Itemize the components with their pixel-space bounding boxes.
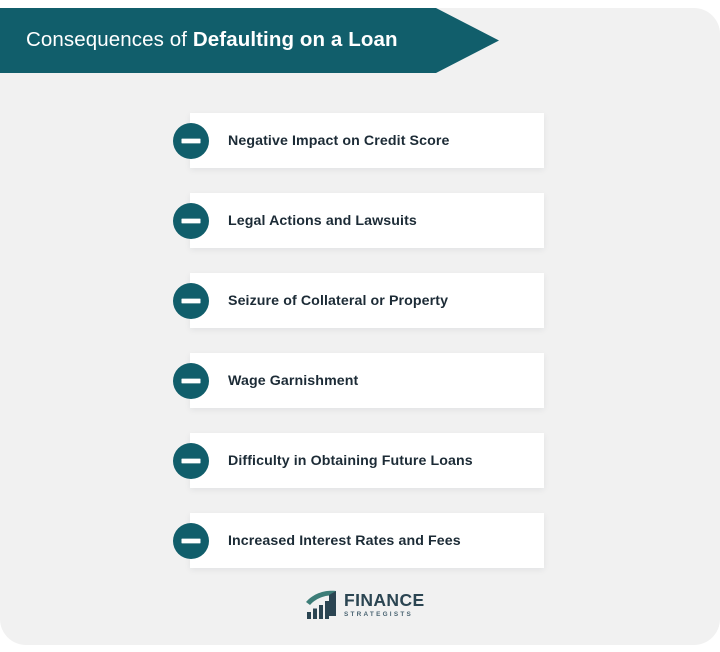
brand-logo-text: FINANCE STRATEGISTS xyxy=(344,592,425,618)
page-title-regular: Consequences of xyxy=(26,28,193,51)
list-item-label: Difficulty in Obtaining Future Loans xyxy=(228,453,473,469)
infographic-root: Consequences of Defaulting on a Loan Neg… xyxy=(0,0,720,652)
list-item-label: Increased Interest Rates and Fees xyxy=(228,533,461,549)
list-item-label: Seizure of Collateral or Property xyxy=(228,293,448,309)
bar-chart-swoosh-logo-icon xyxy=(305,590,339,620)
list-item[interactable]: Negative Impact on Credit Score xyxy=(190,113,544,168)
minus-circle-icon xyxy=(172,202,210,240)
list-item[interactable]: Difficulty in Obtaining Future Loans xyxy=(190,433,544,488)
list-item[interactable]: Legal Actions and Lawsuits xyxy=(190,193,544,248)
page-title: Consequences of Defaulting on a Loan xyxy=(26,29,398,52)
minus-circle-icon xyxy=(172,282,210,320)
list-item-label: Negative Impact on Credit Score xyxy=(228,133,450,149)
consequences-list: Negative Impact on Credit Score Legal Ac… xyxy=(190,113,544,568)
list-item[interactable]: Increased Interest Rates and Fees xyxy=(190,513,544,568)
list-item-label: Wage Garnishment xyxy=(228,373,358,389)
list-item[interactable]: Seizure of Collateral or Property xyxy=(190,273,544,328)
brand-name: FINANCE xyxy=(344,592,425,610)
brand-subtitle: STRATEGISTS xyxy=(344,612,425,618)
list-item[interactable]: Wage Garnishment xyxy=(190,353,544,408)
minus-circle-icon xyxy=(172,122,210,160)
minus-circle-icon xyxy=(172,522,210,560)
list-item-label: Legal Actions and Lawsuits xyxy=(228,213,417,229)
header-banner: Consequences of Defaulting on a Loan xyxy=(0,8,499,73)
brand-logo: FINANCE STRATEGISTS xyxy=(305,590,425,620)
minus-circle-icon xyxy=(172,442,210,480)
page-title-bold: Defaulting on a Loan xyxy=(193,28,398,51)
minus-circle-icon xyxy=(172,362,210,400)
